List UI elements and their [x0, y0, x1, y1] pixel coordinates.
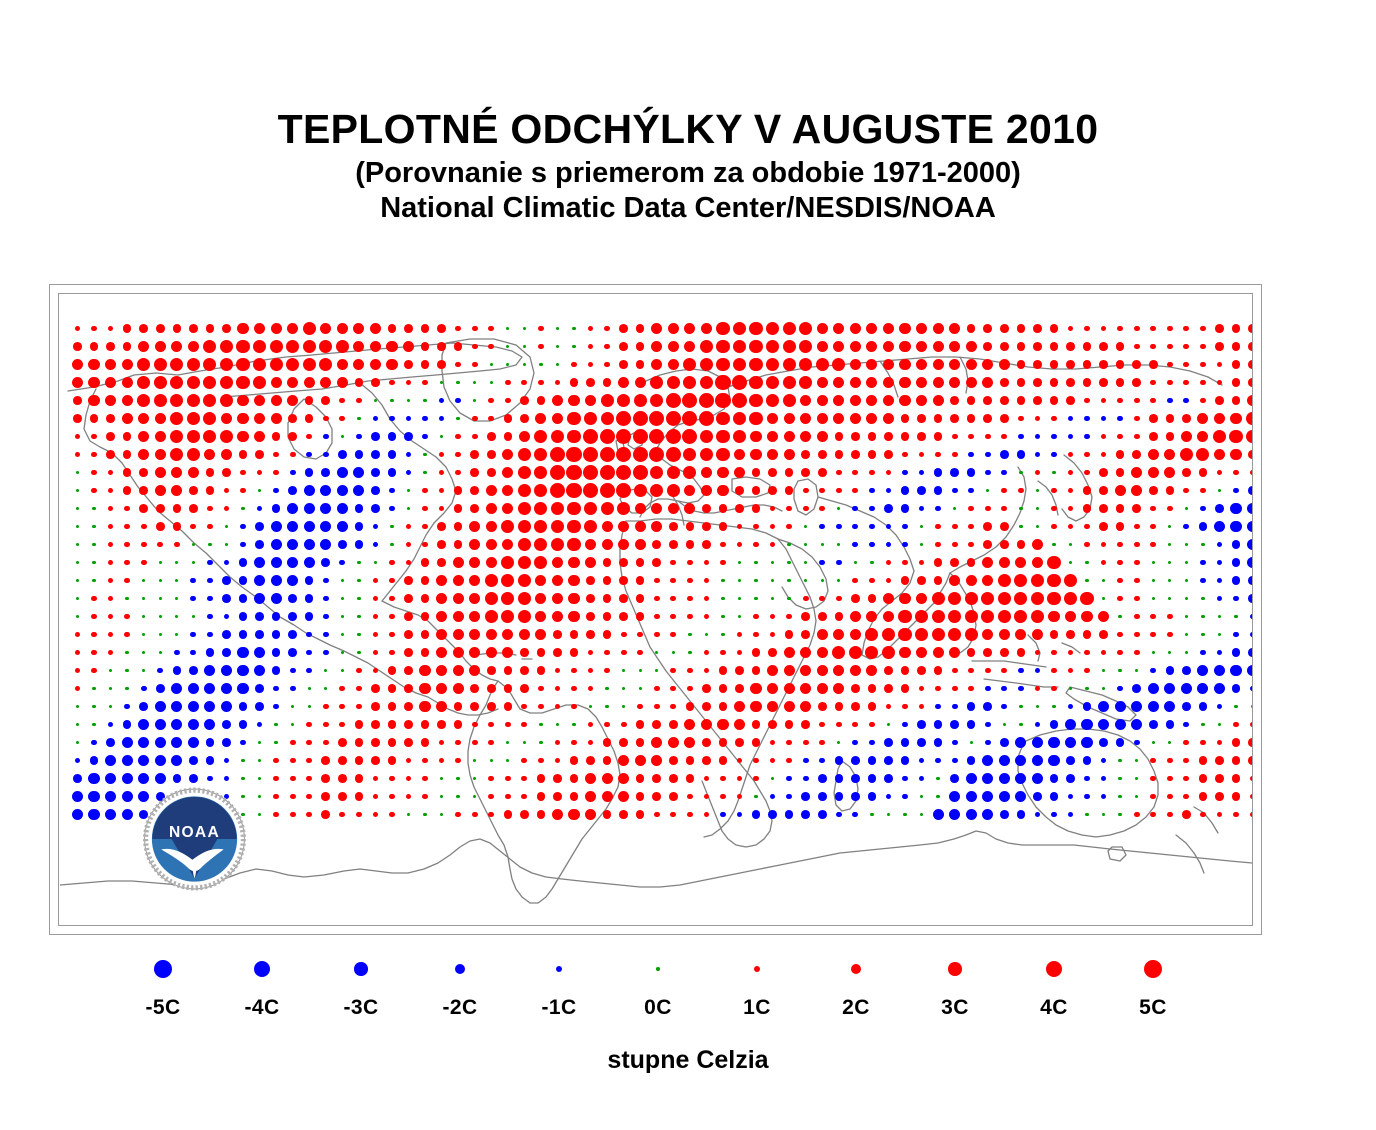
legend-label: -3C: [316, 996, 406, 1020]
legend-label: 0C: [613, 996, 703, 1020]
legend-swatch: [656, 967, 660, 971]
legend-entry: 2C: [811, 952, 901, 1020]
legend-caption: stupne Celzia: [0, 1046, 1376, 1075]
legend-swatch-wrap: [514, 952, 604, 986]
legend-swatch: [154, 960, 172, 978]
svg-text:NOAA: NOAA: [169, 823, 220, 840]
legend-entry: 0C: [613, 952, 703, 1020]
legend-swatch-wrap: [910, 952, 1000, 986]
legend-label: -2C: [415, 996, 505, 1020]
legend-swatch: [851, 964, 861, 974]
legend-entry: -5C: [118, 952, 208, 1020]
legend-swatch: [556, 966, 563, 973]
legend-swatch-wrap: [1108, 952, 1198, 986]
legend-entry: 1C: [712, 952, 802, 1020]
subtitle-baseline: (Porovnanie s priemerom za obdobie 1971-…: [0, 158, 1376, 189]
legend-label: 3C: [910, 996, 1000, 1020]
legend-swatch-wrap: [712, 952, 802, 986]
map-plot-area: NOAA: [60, 295, 1252, 925]
legend: -5C-4C-3C-2C-1C0C1C2C3C4C5C: [0, 952, 1376, 1052]
legend-swatch-wrap: [811, 952, 901, 986]
legend-entry: -1C: [514, 952, 604, 1020]
legend-entry: 3C: [910, 952, 1000, 1020]
title-block: TEPLOTNÉ ODCHÝLKY V AUGUSTE 2010 (Porovn…: [0, 108, 1376, 225]
legend-label: -5C: [118, 996, 208, 1020]
legend-swatch: [354, 962, 368, 976]
legend-swatch-wrap: [217, 952, 307, 986]
legend-swatch-wrap: [118, 952, 208, 986]
legend-swatch: [1144, 960, 1162, 978]
legend-entry: 4C: [1009, 952, 1099, 1020]
legend-swatch: [1046, 961, 1062, 977]
legend-label: 5C: [1108, 996, 1198, 1020]
legend-entry: 5C: [1108, 952, 1198, 1020]
legend-label: -4C: [217, 996, 307, 1020]
noaa-logo: NOAA: [141, 787, 248, 891]
legend-label: 1C: [712, 996, 802, 1020]
legend-swatch: [754, 966, 761, 973]
legend-swatch-wrap: [415, 952, 505, 986]
legend-label: -1C: [514, 996, 604, 1020]
legend-swatch-wrap: [316, 952, 406, 986]
legend-label: 4C: [1009, 996, 1099, 1020]
legend-swatch: [254, 961, 270, 977]
legend-swatch-wrap: [613, 952, 703, 986]
legend-swatch: [948, 962, 962, 976]
page-title: TEPLOTNÉ ODCHÝLKY V AUGUSTE 2010: [0, 108, 1376, 151]
map-outer-frame: NOAA: [49, 284, 1262, 935]
subtitle-source: National Climatic Data Center/NESDIS/NOA…: [0, 193, 1376, 224]
legend-entry: -2C: [415, 952, 505, 1020]
legend-entry: -3C: [316, 952, 406, 1020]
legend-swatch-wrap: [1009, 952, 1099, 986]
legend-swatch: [455, 964, 465, 974]
legend-entry: -4C: [217, 952, 307, 1020]
legend-label: 2C: [811, 996, 901, 1020]
